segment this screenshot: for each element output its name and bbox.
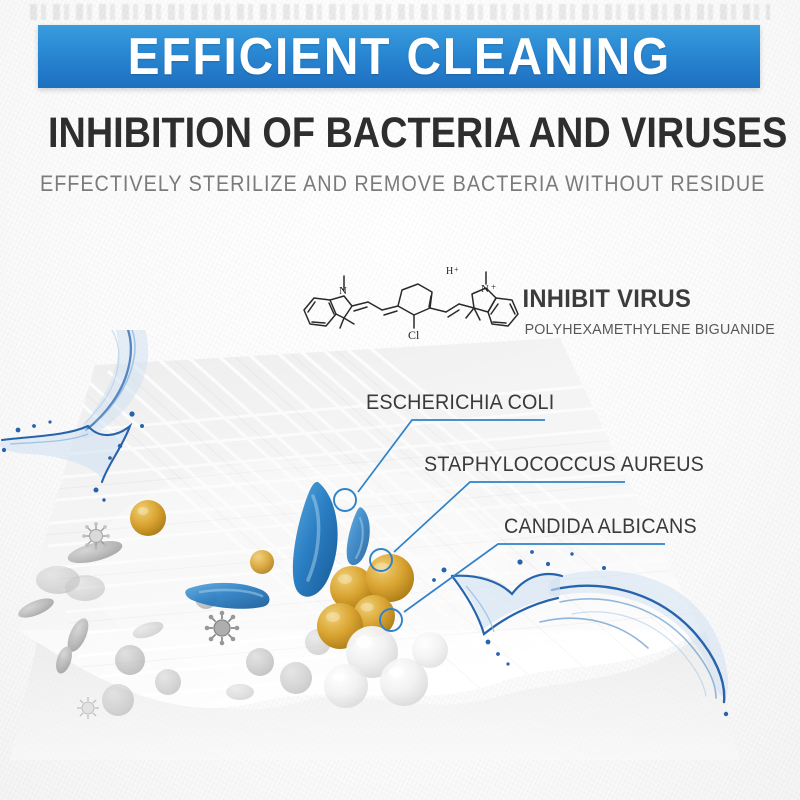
atom-label-n-left: N — [339, 285, 347, 297]
chemical-structure-diagram: N N Cl + H + — [296, 262, 526, 362]
atom-label-n-right: N — [481, 283, 489, 295]
ghost-text-artifact — [30, 4, 770, 20]
atom-label-h: H — [446, 266, 453, 277]
banner: EFFICIENT CLEANING — [38, 25, 760, 88]
callout-label-staph: STAPHYLOCOCCUS AUREUS — [424, 454, 704, 475]
banner-title: EFFICIENT CLEANING — [127, 31, 670, 83]
page-headline: INHIBITION OF BACTERIA AND VIRUSES — [48, 112, 752, 155]
ingredient-title: INHIBIT VIRUS — [522, 287, 691, 312]
atom-label-cl: Cl — [408, 328, 420, 342]
charge-label-plus-2: + — [454, 265, 459, 274]
callout-label-ecoli: ESCHERICHIA COLI — [366, 392, 554, 413]
ingredient-subtitle: POLYHEXAMETHYLENE BIGUANIDE — [525, 322, 775, 337]
page-subheadline: EFFECTIVELY STERILIZE AND REMOVE BACTERI… — [40, 173, 760, 195]
callout-label-candida: CANDIDA ALBICANS — [504, 516, 697, 537]
charge-label-plus: + — [491, 282, 496, 292]
product-infographic: EFFICIENT CLEANING INHIBITION OF BACTERI… — [0, 0, 800, 800]
